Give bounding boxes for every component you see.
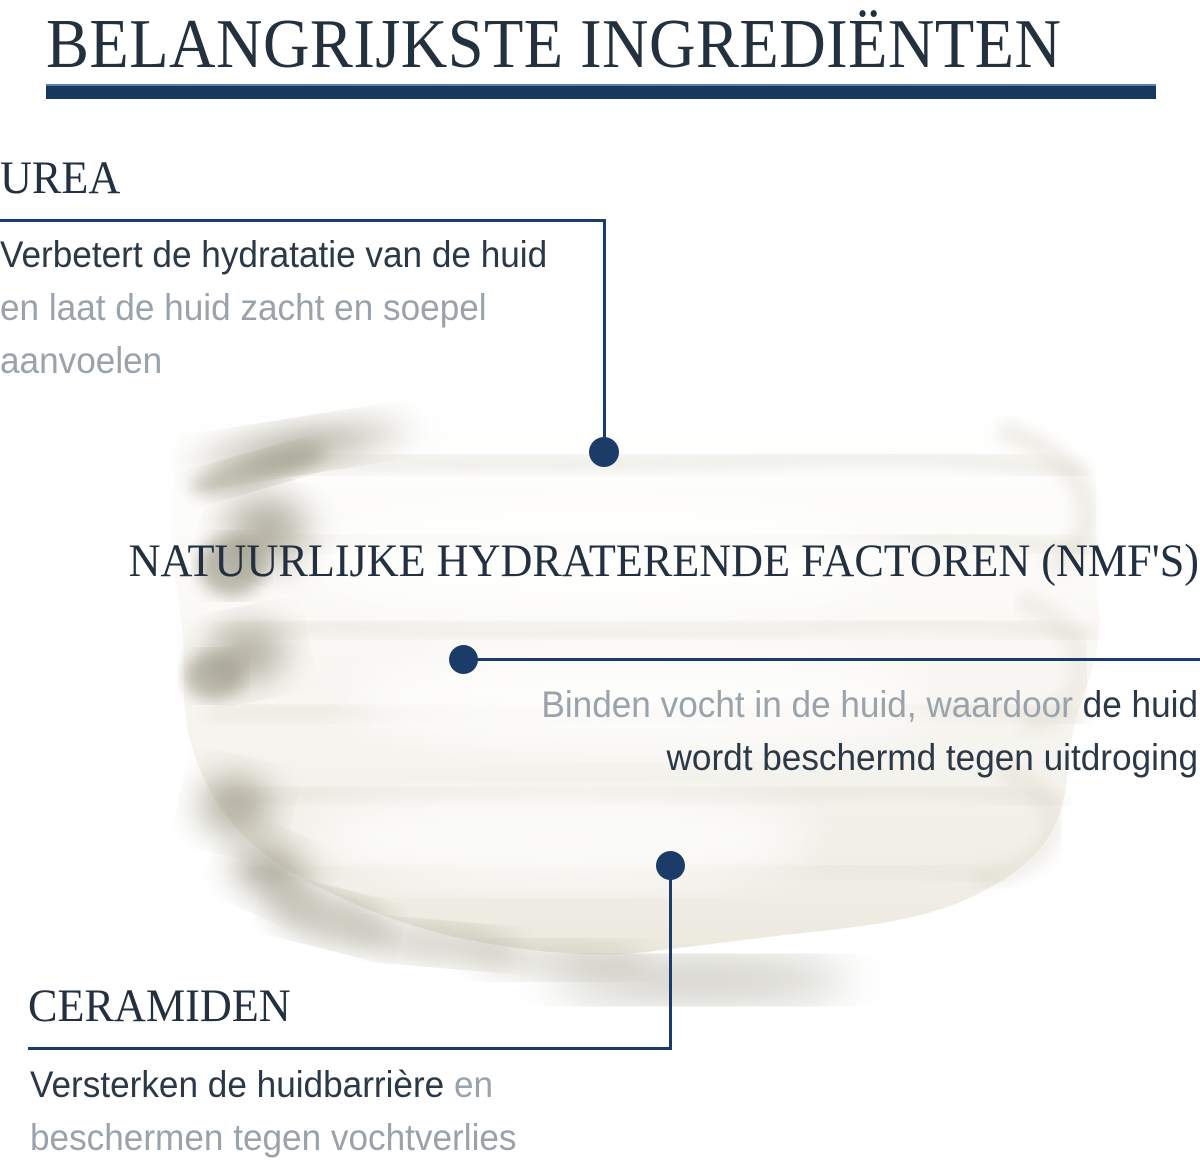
ingredient-heading-nmf: NATUURLIJKE HYDRATERENDE FACTOREN (NMF'S… (72, 530, 1199, 593)
page-title: BELANGRIJKSTE INGREDIËNTEN (46, 8, 1158, 82)
ingredient-description-nmf: Binden vocht in de huid, waardoor de hui… (516, 678, 1198, 784)
infographic-canvas: BELANGRIJKSTE INGREDIËNTEN UREA Verbeter… (0, 0, 1200, 1163)
ingredient-heading-ceramiden: CERAMIDEN (28, 980, 291, 1032)
urea-description-strong: Verbetert de hydratatie van de huid (0, 234, 547, 275)
ingredient-description-urea: Verbetert de hydratatie van de huid en l… (0, 228, 570, 387)
page-title-text: BELANGRIJKSTE INGREDIËNTEN (46, 8, 1069, 82)
ingredient-description-ceramiden: Versterken de huidbarrière en beschermen… (30, 1058, 638, 1163)
connector-line-ceramiden-horizontal (28, 1047, 672, 1050)
nmf-description-lead: Binden vocht in de huid, waardoor (541, 684, 1082, 725)
connector-line-urea-horizontal (0, 219, 606, 222)
connector-dot-urea (589, 437, 619, 467)
urea-description-rest: en laat de huid zacht en soepel aanvoele… (0, 287, 487, 381)
ingredient-heading-urea: UREA (0, 152, 120, 204)
connector-line-nmf-horizontal (463, 658, 1200, 661)
connector-dot-nmf (449, 645, 478, 674)
connector-line-urea-vertical (603, 219, 606, 451)
ceramiden-description-strong: Versterken de huidbarrière (30, 1064, 444, 1105)
title-underline-rule (46, 84, 1156, 99)
connector-line-ceramiden-vertical (669, 865, 672, 1050)
